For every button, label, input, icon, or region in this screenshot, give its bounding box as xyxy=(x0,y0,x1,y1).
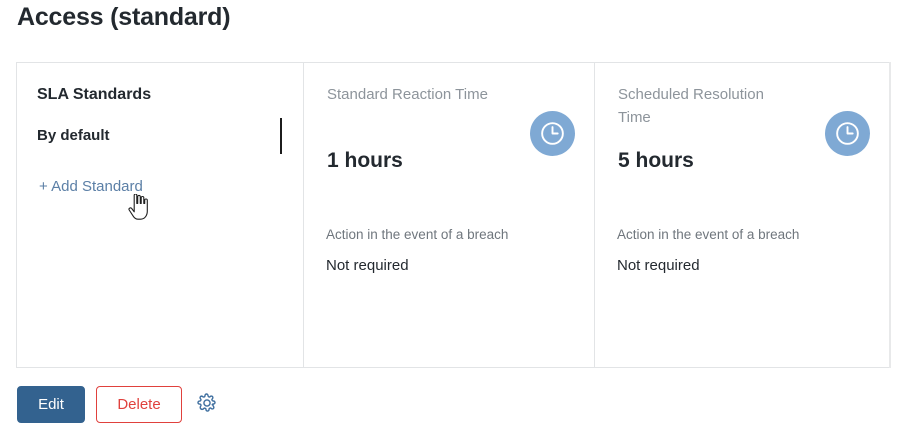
action-bar: Edit Delete xyxy=(17,386,219,423)
page-title: Access (standard) xyxy=(17,3,230,32)
add-standard-link[interactable]: + Add Standard xyxy=(39,178,143,195)
metric-card-value: 1 hours xyxy=(327,149,403,173)
metric-card-breach-label: Action in the event of a breach xyxy=(326,227,508,242)
sla-panel: SLA Standards By default + Add Standard … xyxy=(16,62,890,368)
edit-button[interactable]: Edit xyxy=(17,386,85,423)
hand-pointer-cursor xyxy=(128,194,150,220)
standards-heading: SLA Standards xyxy=(37,86,151,104)
panel-scrollbar[interactable] xyxy=(889,62,891,368)
gear-icon xyxy=(197,393,217,416)
metric-card-standard-reaction-time: Standard Reaction Time 1 hours Action in… xyxy=(304,63,595,367)
metric-card-label: Standard Reaction Time xyxy=(327,83,507,106)
standards-column: SLA Standards By default + Add Standard xyxy=(17,63,304,367)
standards-list-item-by-default[interactable]: By default xyxy=(37,127,110,144)
clock-icon xyxy=(530,111,575,156)
metric-card-breach-value: Not required xyxy=(617,257,700,274)
clock-icon xyxy=(825,111,870,156)
delete-button[interactable]: Delete xyxy=(96,386,182,423)
metric-card-breach-value: Not required xyxy=(326,257,409,274)
metric-card-breach-label: Action in the event of a breach xyxy=(617,227,799,242)
settings-button[interactable] xyxy=(195,393,219,417)
metric-card-label: Scheduled Resolution Time xyxy=(618,83,798,129)
metric-card-scheduled-resolution-time: Scheduled Resolution Time 5 hours Action… xyxy=(595,63,889,367)
metric-card-value: 5 hours xyxy=(618,149,694,173)
active-standard-indicator xyxy=(280,118,282,154)
